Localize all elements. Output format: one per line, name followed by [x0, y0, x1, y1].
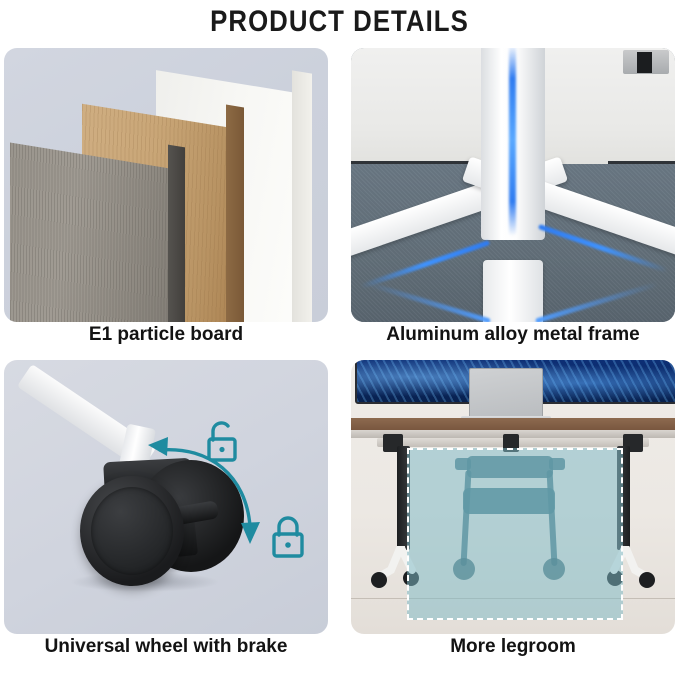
frame-connector-detail — [623, 50, 669, 74]
page-title: PRODUCT DETAILS — [48, 0, 632, 44]
lock-icon — [266, 512, 310, 560]
unlock-icon — [200, 416, 244, 464]
detail-card-more-legroom: More legroom — [351, 360, 675, 636]
caption-more-legroom: More legroom — [351, 636, 675, 658]
caption-universal-wheel-with-brake: Universal wheel with brake — [4, 636, 328, 658]
frame-leg-front — [483, 260, 543, 322]
detail-card-e1-particle-board: E1 particle board — [4, 48, 328, 324]
photo-universal-wheel-with-brake — [4, 360, 328, 634]
caption-e1-particle-board: E1 particle board — [4, 324, 328, 346]
oak-board-edge — [226, 105, 244, 322]
gray-board — [10, 143, 176, 322]
photo-more-legroom — [351, 360, 675, 634]
gray-board-edge — [168, 145, 185, 322]
legroom-highlight-region — [407, 448, 623, 620]
product-details-grid: E1 particle board Aluminum alloy metal f… — [0, 44, 679, 673]
photo-aluminum-alloy-metal-frame — [351, 48, 675, 322]
detail-card-universal-wheel-with-brake: Universal wheel with brake — [4, 360, 328, 636]
laptop — [469, 368, 543, 420]
led-accent-vertical — [509, 48, 516, 236]
photo-e1-particle-board — [4, 48, 328, 322]
white-board-edge — [292, 70, 312, 322]
detail-card-aluminum-alloy-metal-frame: Aluminum alloy metal frame — [351, 48, 675, 324]
caption-aluminum-alloy-metal-frame: Aluminum alloy metal frame — [351, 324, 675, 346]
desk-surface — [351, 418, 675, 430]
